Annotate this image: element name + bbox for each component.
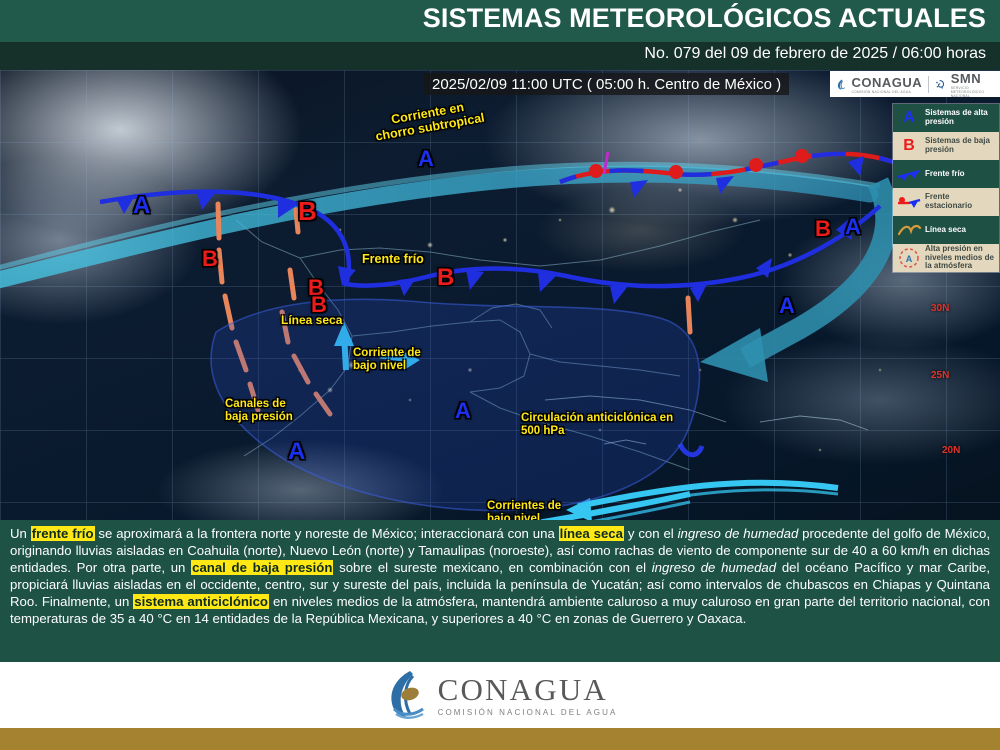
footer-gold-bar bbox=[0, 728, 1000, 750]
anticyclonic-circulation-area bbox=[211, 299, 699, 510]
legend-label-1: Sistemas de baja presión bbox=[925, 137, 999, 155]
svg-text:A: A bbox=[906, 254, 913, 264]
highlight-term-11: sistema anticiclónico bbox=[133, 594, 269, 609]
stationary-front-icon bbox=[896, 196, 922, 209]
conagua-logo-icon bbox=[383, 669, 427, 721]
footer-conagua-sub: COMISIÓN NACIONAL DEL AGUA bbox=[438, 708, 618, 717]
letter-b-red-icon: B bbox=[903, 138, 915, 154]
text-segment-0: Un bbox=[10, 526, 31, 541]
letter-a-blue: A bbox=[893, 110, 925, 126]
legend-row-1[interactable]: BSistemas de baja presión bbox=[893, 132, 999, 160]
weather-systems-overlay bbox=[0, 70, 1000, 520]
forecast-summary-text: Un frente frío se aproximará a la fronte… bbox=[10, 526, 990, 627]
legend-row-0[interactable]: ASistemas de alta presión bbox=[893, 104, 999, 132]
smn-wordmark: SMN bbox=[951, 71, 994, 86]
conagua-tagline: COMISIÓN NACIONAL DEL AGUA bbox=[851, 90, 922, 94]
italic-term-9: ingreso de humedad bbox=[652, 560, 776, 575]
letter-a-blue-icon: A bbox=[903, 110, 915, 126]
footer-conagua-name: CONAGUA bbox=[438, 674, 618, 705]
legend-row-3[interactable]: Frente estacionario bbox=[893, 188, 999, 216]
agency-logo-bar: CONAGUA COMISIÓN NACIONAL DEL AGUA SMN S… bbox=[830, 71, 1000, 97]
page-title: SISTEMAS METEOROLÓGICOS ACTUALES bbox=[423, 3, 986, 34]
highlight-term-7: canal de baja presión bbox=[191, 560, 333, 575]
legend-label-2: Frente frío bbox=[925, 170, 968, 179]
legend-row-5[interactable]: AAlta presión en niveles medios de la at… bbox=[893, 244, 999, 272]
legend-label-0: Sistemas de alta presión bbox=[925, 109, 999, 127]
legend-label-3: Frente estacionario bbox=[925, 193, 999, 211]
weather-bulletin-page: SISTEMAS METEOROLÓGICOS ACTUALES No. 079… bbox=[0, 0, 1000, 750]
text-segment-2: se aproximará a la frontera norte y nore… bbox=[95, 526, 559, 541]
smn-spiral-icon bbox=[935, 76, 945, 93]
upper-high-icon: A bbox=[893, 247, 925, 270]
highlight-term-1: frente frío bbox=[31, 526, 95, 541]
dry-line-icon bbox=[896, 223, 922, 237]
cold-front-icon bbox=[893, 168, 925, 181]
smn-tagline: SERVICIO METEOROLÓGICO NACIONAL bbox=[951, 86, 994, 98]
legend-row-4[interactable]: Línea seca bbox=[893, 216, 999, 244]
dry-line-icon bbox=[893, 223, 925, 237]
italic-term-5: ingreso de humedad bbox=[678, 526, 799, 541]
legend-row-2[interactable]: Frente frío bbox=[893, 160, 999, 188]
map-legend[interactable]: ASistemas de alta presiónBSistemas de ba… bbox=[892, 103, 1000, 273]
highlight-term-3: línea seca bbox=[559, 526, 624, 541]
legend-label-5: Alta presión en niveles medios de la atm… bbox=[925, 245, 999, 272]
conagua-wordmark: CONAGUA bbox=[851, 75, 922, 90]
forecast-summary-panel: Un frente frío se aproximará a la fronte… bbox=[0, 520, 1000, 662]
satellite-weather-map[interactable]: Corriente enchorro subtropicalFrente frí… bbox=[0, 70, 1000, 520]
conagua-water-icon bbox=[836, 75, 845, 94]
logo-divider bbox=[928, 76, 929, 93]
timestamp-text: 2025/02/09 11:00 UTC ( 05:00 h. Centro d… bbox=[432, 76, 781, 93]
bulletin-number-date: No. 079 del 09 de febrero de 2025 / 06:0… bbox=[644, 45, 986, 63]
text-segment-8: sobre el sureste mexicano, en combinació… bbox=[333, 560, 651, 575]
map-timestamp-bar: 2025/02/09 11:00 UTC ( 05:00 h. Centro d… bbox=[424, 73, 789, 95]
text-segment-4: y con el bbox=[624, 526, 678, 541]
footer-conagua-logo: CONAGUA COMISIÓN NACIONAL DEL AGUA bbox=[383, 669, 618, 721]
legend-label-4: Línea seca bbox=[925, 226, 969, 235]
letter-b-red: B bbox=[893, 138, 925, 154]
stationary-front-icon bbox=[893, 196, 925, 209]
upper-high-icon: A bbox=[896, 247, 922, 270]
footer-brand-bar: CONAGUA COMISIÓN NACIONAL DEL AGUA bbox=[0, 662, 1000, 728]
cold-front-icon bbox=[896, 168, 922, 181]
